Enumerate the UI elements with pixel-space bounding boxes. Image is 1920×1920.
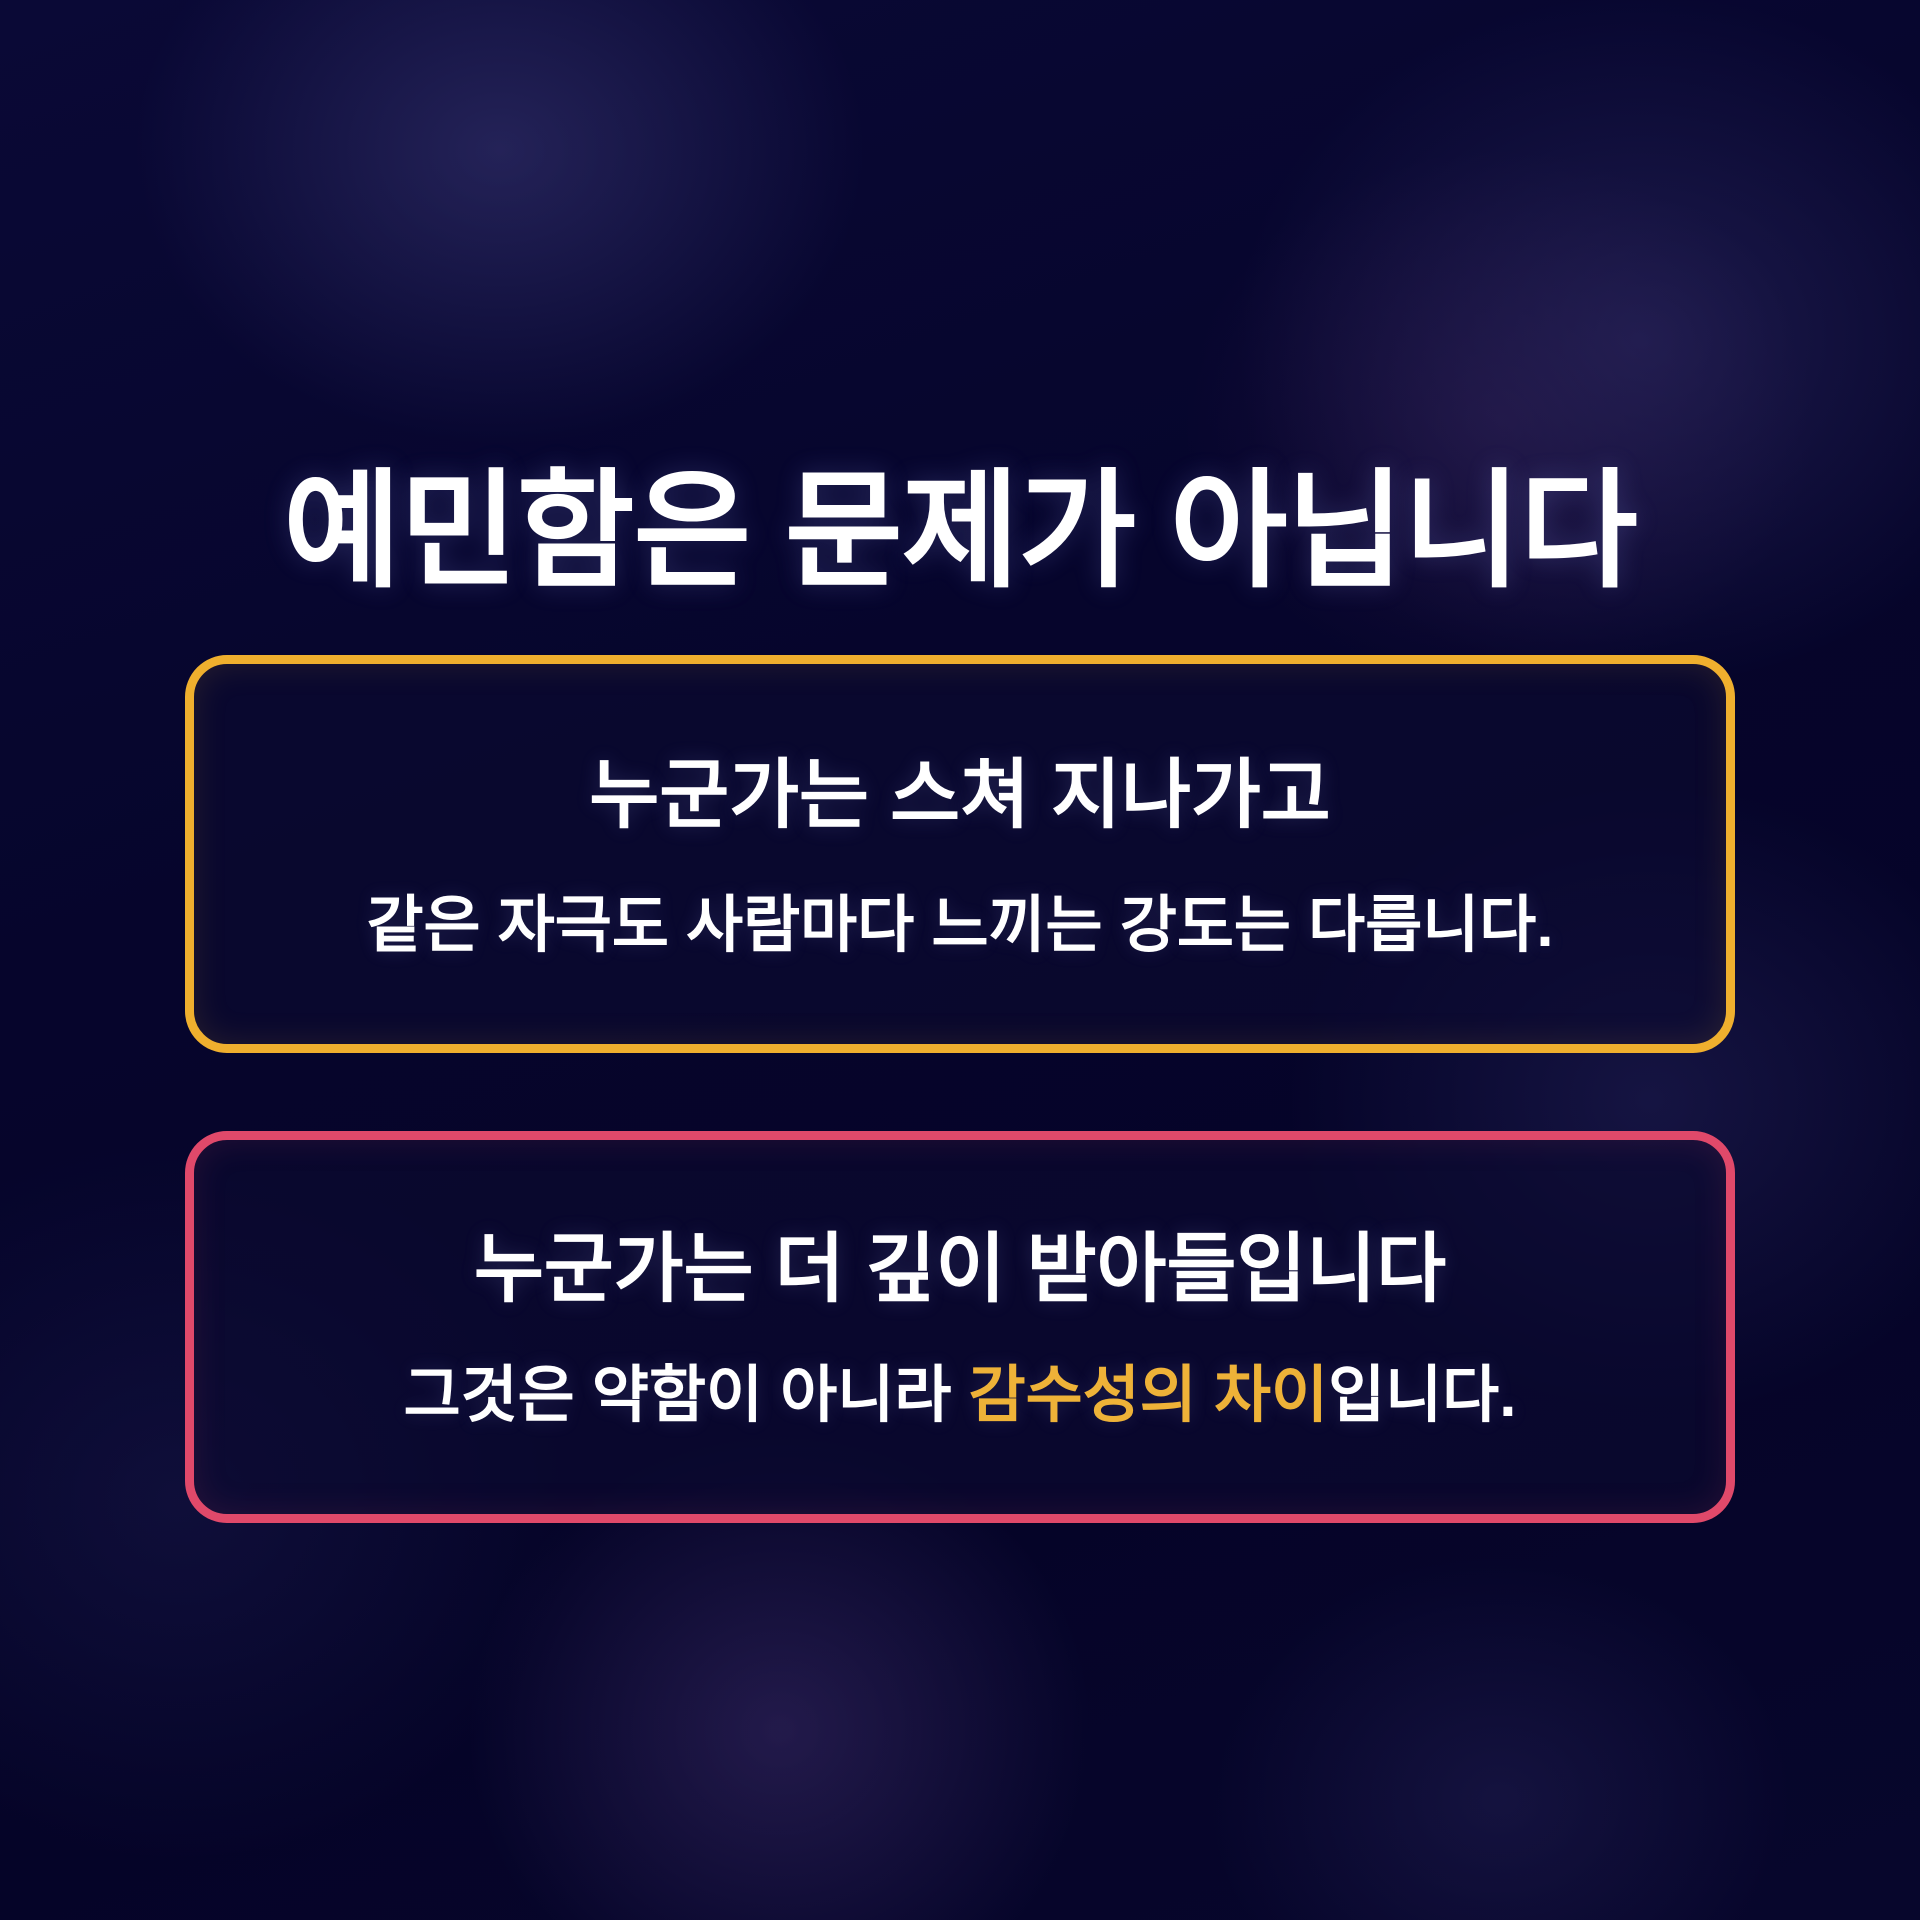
page-title: 예민함은 문제가 아닙니다 bbox=[0, 458, 1920, 605]
card-sensitivity-passing: 누군가는 스쳐 지나가고 같은 자극도 사람마다 느끼는 강도는 다릅니다. bbox=[185, 655, 1735, 1053]
card-subtitle: 그것은 약함이 아니라 감수성의 차이입니다. bbox=[404, 1357, 1517, 1435]
subtitle-text-after: 입니다. bbox=[1328, 1361, 1516, 1430]
slide-canvas: 예민함은 문제가 아닙니다 누군가는 스쳐 지나가고 같은 자극도 사람마다 느… bbox=[0, 0, 1920, 1920]
card-heading: 누군가는 더 깊이 받아들입니다 bbox=[474, 1224, 1446, 1315]
card-subtitle: 같은 자극도 사람마다 느끼는 강도는 다릅니다. bbox=[366, 887, 1553, 965]
card-sensitivity-deep: 누군가는 더 깊이 받아들입니다 그것은 약함이 아니라 감수성의 차이입니다. bbox=[185, 1131, 1735, 1523]
subtitle-highlight: 감수성의 차이 bbox=[969, 1361, 1328, 1430]
card-heading: 누군가는 스쳐 지나가고 bbox=[589, 750, 1330, 841]
subtitle-text-before: 그것은 약함이 아니라 bbox=[404, 1361, 969, 1430]
